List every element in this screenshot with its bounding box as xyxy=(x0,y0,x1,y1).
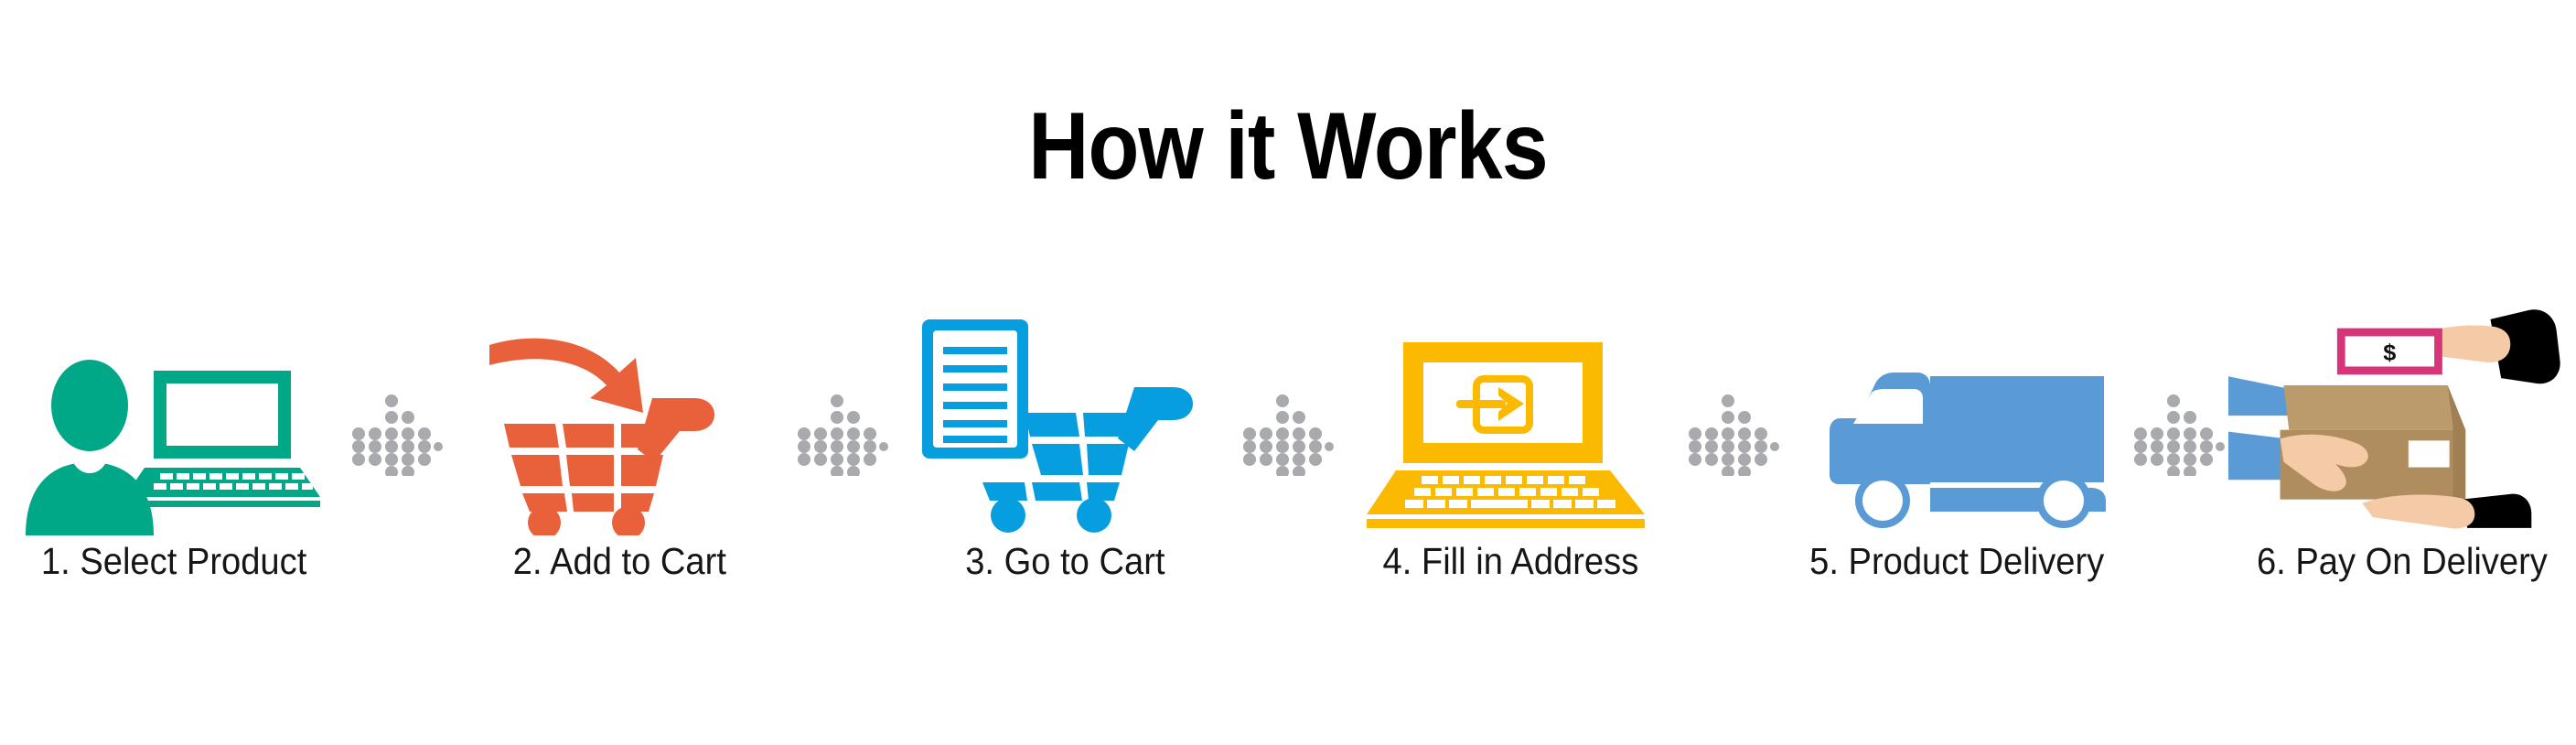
separator-3 xyxy=(1239,302,1336,641)
dotted-arrow-right-icon xyxy=(351,394,443,476)
step-1-icon-box xyxy=(0,302,348,535)
infographic-page: How it Works xyxy=(0,0,2576,745)
step-4-fill-in-address[interactable]: 4. Fill in Address xyxy=(1337,302,1685,641)
dotted-arrow-right-icon xyxy=(2133,394,2225,476)
step-2-add-to-cart[interactable]: 2. Add to Cart xyxy=(445,302,793,641)
dotted-arrow-right-icon xyxy=(1242,394,1334,476)
step-5-label: 5. Product Delivery xyxy=(1809,539,2104,583)
cart-with-arrow-icon xyxy=(482,325,757,535)
step-5-product-delivery[interactable]: 5. Product Delivery xyxy=(1783,302,2131,641)
step-4-icon-box xyxy=(1337,302,1685,535)
step-2-icon-box xyxy=(445,302,793,535)
page-title: How it Works xyxy=(155,99,2421,194)
step-3-go-to-cart[interactable]: 3. Go to Cart xyxy=(891,302,1239,641)
separator-1 xyxy=(348,302,445,641)
step-1-label: 1. Select Product xyxy=(41,539,306,583)
dotted-arrow-right-icon xyxy=(1688,394,1779,476)
dotted-arrow-right-icon xyxy=(797,394,888,476)
hands-box-money-icon: $ xyxy=(2228,302,2576,535)
steps-row: 1. Select Product xyxy=(0,302,2576,641)
laptop-login-icon xyxy=(1365,339,1658,535)
banknote-dollar-symbol: $ xyxy=(2383,340,2396,366)
document-with-cart-icon xyxy=(918,316,1211,535)
step-6-label: 6. Pay On Delivery xyxy=(2257,539,2548,583)
step-6-pay-on-delivery[interactable]: $ xyxy=(2228,302,2576,641)
separator-2 xyxy=(793,302,891,641)
step-5-icon-box xyxy=(1783,302,2131,535)
step-4-label: 4. Fill in Address xyxy=(1383,539,1639,583)
step-3-icon-box xyxy=(891,302,1239,535)
step-2-label: 2. Add to Cart xyxy=(513,539,726,583)
step-1-select-product[interactable]: 1. Select Product xyxy=(0,302,348,641)
person-with-laptop-icon xyxy=(18,352,329,535)
step-3-label: 3. Go to Cart xyxy=(965,539,1165,583)
delivery-truck-icon xyxy=(1806,362,2108,535)
step-6-icon-box: $ xyxy=(2228,302,2576,535)
separator-4 xyxy=(1685,302,1783,641)
separator-5 xyxy=(2131,302,2228,641)
